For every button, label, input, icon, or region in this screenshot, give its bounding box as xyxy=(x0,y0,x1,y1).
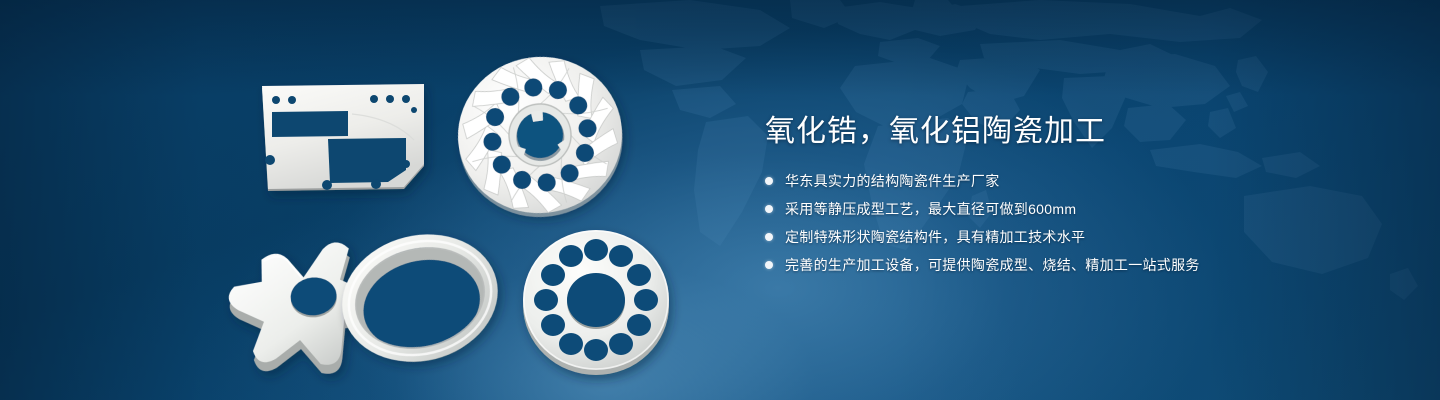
ceramic-mounting-plate xyxy=(262,84,424,191)
feature-text: 完善的生产加工设备，可提供陶瓷成型、烧结、精加工一站式服务 xyxy=(785,254,1200,276)
bullet-dot-icon xyxy=(765,261,773,269)
feature-text: 华东具实力的结构陶瓷件生产厂家 xyxy=(785,170,1000,192)
feature-text: 采用等静压成型工艺，最大直径可做到600mm xyxy=(785,198,1076,220)
list-item: 华东具实力的结构陶瓷件生产厂家 xyxy=(765,170,1385,192)
bullet-dot-icon xyxy=(765,205,773,213)
feature-text: 定制特殊形状陶瓷结构件，具有精加工技术水平 xyxy=(785,226,1085,248)
feature-list: 华东具实力的结构陶瓷件生产厂家 采用等静压成型工艺，最大直径可做到600mm 定… xyxy=(765,170,1385,276)
ceramic-thin-ring xyxy=(337,226,506,376)
ceramic-perforated-ring xyxy=(523,230,669,375)
ceramic-impeller xyxy=(447,42,632,227)
page-title: 氧化锆，氧化铝陶瓷加工 xyxy=(765,112,1385,152)
bullet-dot-icon xyxy=(765,177,773,185)
list-item: 完善的生产加工设备，可提供陶瓷成型、烧结、精加工一站式服务 xyxy=(765,254,1385,276)
list-item: 定制特殊形状陶瓷结构件，具有精加工技术水平 xyxy=(765,226,1385,248)
banner-copy: 氧化锆，氧化铝陶瓷加工 华东具实力的结构陶瓷件生产厂家 采用等静压成型工艺，最大… xyxy=(765,112,1385,282)
bullet-dot-icon xyxy=(765,233,773,241)
hero-banner: 氧化锆，氧化铝陶瓷加工 华东具实力的结构陶瓷件生产厂家 采用等静压成型工艺，最大… xyxy=(0,0,1440,400)
product-photo-group xyxy=(0,0,720,400)
list-item: 采用等静压成型工艺，最大直径可做到600mm xyxy=(765,198,1385,220)
